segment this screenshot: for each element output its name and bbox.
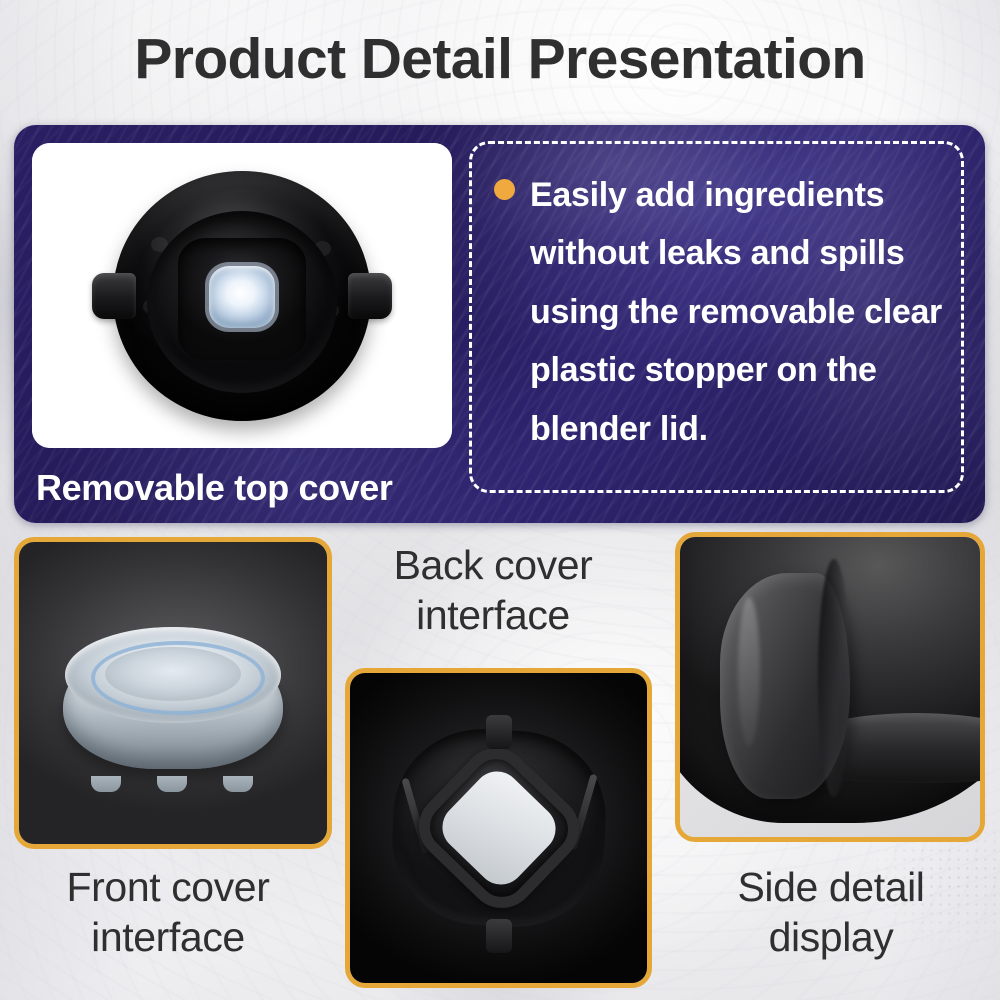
top-feature-panel: Easily add ingredients without leaks and… bbox=[14, 125, 985, 523]
lid-side-groove bbox=[818, 559, 850, 797]
feature-bullet-row: Easily add ingredients without leaks and… bbox=[494, 166, 943, 458]
bullet-dot-icon bbox=[494, 179, 515, 200]
removable-top-cover-caption: Removable top cover bbox=[36, 467, 393, 509]
back-cover-photo bbox=[350, 673, 647, 983]
front-cover-interface-caption: Front cover interface bbox=[0, 862, 336, 962]
stopper-notch bbox=[157, 776, 187, 792]
product-detail-presentation-page: Product Detail Presentation bbox=[0, 0, 1000, 1000]
stopper-notch bbox=[223, 776, 253, 792]
back-cover-tab-top bbox=[486, 715, 512, 749]
removable-top-cover-photo-card bbox=[32, 143, 452, 448]
back-cover-interface-photo-card bbox=[345, 668, 652, 988]
stopper-inner-face bbox=[105, 647, 241, 701]
front-cover-photo bbox=[19, 542, 327, 844]
back-cover-interface-caption: Back cover interface bbox=[338, 540, 648, 640]
clear-plastic-stopper bbox=[209, 266, 275, 328]
blender-lid-photo bbox=[32, 143, 452, 448]
front-cover-interface-photo-card bbox=[14, 537, 332, 849]
stopper-notch bbox=[91, 776, 121, 792]
page-title: Product Detail Presentation bbox=[0, 28, 1000, 91]
lid-tab-left bbox=[92, 273, 136, 319]
translucent-stopper bbox=[57, 621, 289, 789]
lid-tab-right bbox=[348, 273, 392, 319]
side-detail-display-caption: Side detail display bbox=[672, 862, 990, 962]
side-detail-photo bbox=[680, 537, 980, 837]
back-cover-tab-bottom bbox=[486, 919, 512, 953]
side-detail-display-photo-card bbox=[675, 532, 985, 842]
lid-side-highlight bbox=[738, 597, 760, 747]
feature-bullet-text: Easily add ingredients without leaks and… bbox=[530, 166, 943, 458]
feature-bullet-box: Easily add ingredients without leaks and… bbox=[469, 141, 964, 493]
